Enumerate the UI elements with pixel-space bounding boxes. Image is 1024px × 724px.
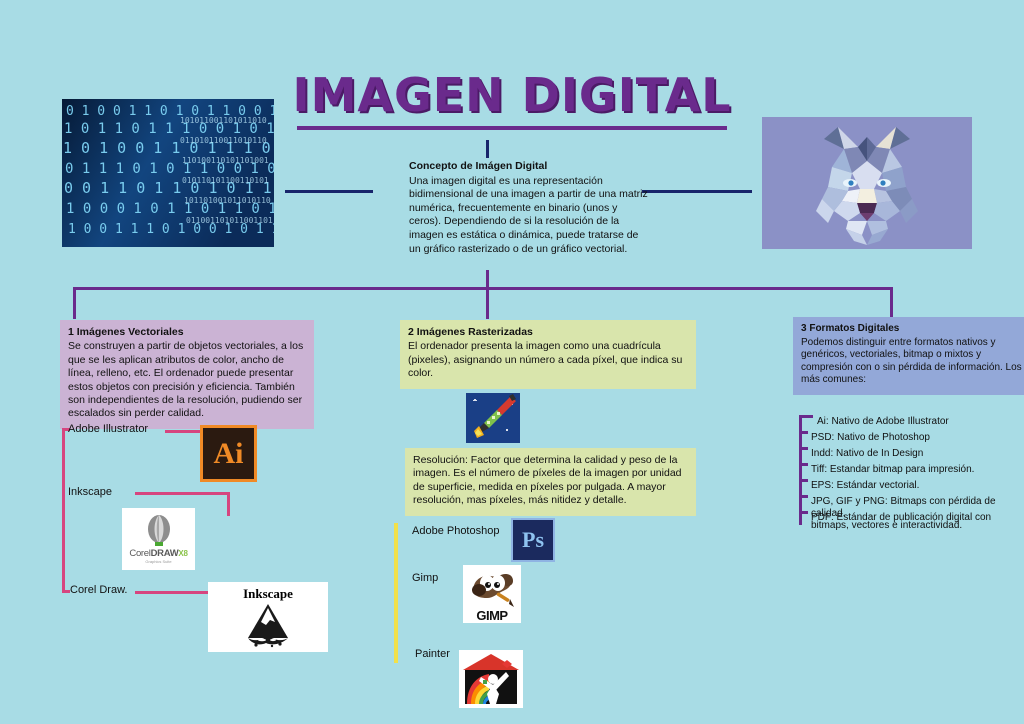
vector-software-spine [62,428,65,593]
pixel-rocket-graphic [466,393,520,443]
format-item: PSD: Nativo de Photoshop [811,432,930,444]
connector-corel [135,591,215,594]
format-item: Indd: Nativo de In Design [811,448,923,460]
inkscape-icon [242,602,294,648]
box-raster-heading: 2 Imágenes Rasterizadas [408,326,688,339]
coreldraw-suite-subtext: Graphics Suite [145,559,171,564]
coreldraw-wordmark: DRAW [151,548,179,559]
adobe-illustrator-logo: Ai [200,425,257,482]
bracket-drop-left [73,287,76,319]
svg-text:101101001011010110: 101101001011010110 [184,196,271,205]
gimp-wilber-icon [465,568,519,608]
infographic-canvas: IMAGEN DIGITAL 0 1 0 0 1 1 0 1 0 1 1 0 0… [0,0,1024,724]
concept-text-block: Concepto de Imágen Digital Una imagen di… [409,160,649,256]
format-tick [799,479,808,482]
binary-code-photo: 0 1 0 0 1 1 0 1 0 1 1 0 0 1 1 0 1 1 0 1 … [62,99,274,247]
box-formatos-body: Podemos distinguir entre formatos nativo… [801,337,1022,386]
coreldraw-balloon-icon [139,515,179,547]
format-tick [799,463,808,466]
label-adobe-photoshop: Adobe Photoshop [412,525,499,537]
svg-text:011010110011010110: 011010110011010110 [180,136,267,145]
box-resolucion: Resolución: Factor que determina la cali… [405,448,696,516]
binary-code-graphic: 0 1 0 0 1 1 0 1 0 1 1 0 0 1 1 0 1 1 0 1 … [62,99,274,247]
corel-painter-logo [459,650,523,708]
bracket-stem-top [486,270,489,319]
box-vectorial-heading: 1 Imágenes Vectoriales [68,326,306,339]
concept-body: Una imagen digital es una representación… [409,175,648,255]
svg-text:010110101100110101: 010110101100110101 [182,176,269,185]
format-tick [799,511,808,514]
label-inkscape: Inkscape [68,486,112,498]
label-painter: Painter [415,648,450,660]
format-tick [799,447,808,450]
svg-text:101011001101011010: 101011001101011010 [180,116,267,125]
raster-software-spine [394,523,398,663]
bracket-drop-right [890,287,893,319]
coreldraw-version-badge: X8 [178,549,187,558]
box-imagenes-rasterizadas: 2 Imágenes Rasterizadas El ordenador pre… [400,320,696,389]
connector-inkscape-horizontal [135,492,230,495]
box-formatos-digitales: 3 Formatos Digitales Podemos distinguir … [793,317,1024,395]
box-formatos-heading: 3 Formatos Digitales [801,323,1024,336]
box-imagenes-vectoriales: 1 Imágenes Vectoriales Se construyen a p… [60,320,314,429]
vector-tick-corel [62,590,70,593]
gimp-wordmark: GIMP [476,608,507,623]
box-resolucion-body: Resolución: Factor que determina la cali… [413,454,682,506]
painter-icon [459,650,523,708]
adobe-photoshop-logo: Ps [511,518,555,562]
format-item: EPS: Estándar vectorial. [811,480,919,492]
coreldraw-logo: CorelDRAWX8 Graphics Suite [122,508,195,570]
bracket-horizontal [73,287,893,290]
svg-text:110100110101101001: 110100110101101001 [182,156,269,165]
concept-heading: Concepto de Imágen Digital [409,160,649,174]
inkscape-logo: Inkscape [208,582,328,652]
gimp-logo: GIMP [463,565,521,623]
format-tick [799,415,813,418]
svg-text:011001101011001101: 011001101011001101 [186,216,273,225]
format-tick [799,431,808,434]
format-tick [799,495,808,498]
label-corel-draw: Corel Draw. [70,584,127,596]
format-item: Tiff: Estandar bitmap para impresión. [811,464,974,476]
connector-line-left [285,190,373,193]
title-underline-rule [297,126,727,130]
connector-inkscape-vertical [227,492,230,516]
box-raster-body: El ordenador presenta la imagen como una… [408,340,682,379]
label-gimp: Gimp [412,572,438,584]
format-item: Ai: Nativo de Adobe Illustrator [817,416,949,428]
connector-line-right [642,190,752,193]
label-adobe-illustrator: Adobe Illustrator [68,423,148,435]
box-vectorial-body: Se construyen a partir de objetos vector… [68,340,303,419]
wolf-graphic [762,117,972,249]
formats-tail-text: bitmaps, vectores e interactividad. [811,520,962,531]
pixel-rocket-image [466,393,520,443]
low-poly-wolf-illustration [762,117,972,249]
inkscape-wordmark: Inkscape [243,586,293,602]
connector-stem-concept [486,140,489,158]
coreldraw-wordmark-prefix: Corel [129,548,150,559]
